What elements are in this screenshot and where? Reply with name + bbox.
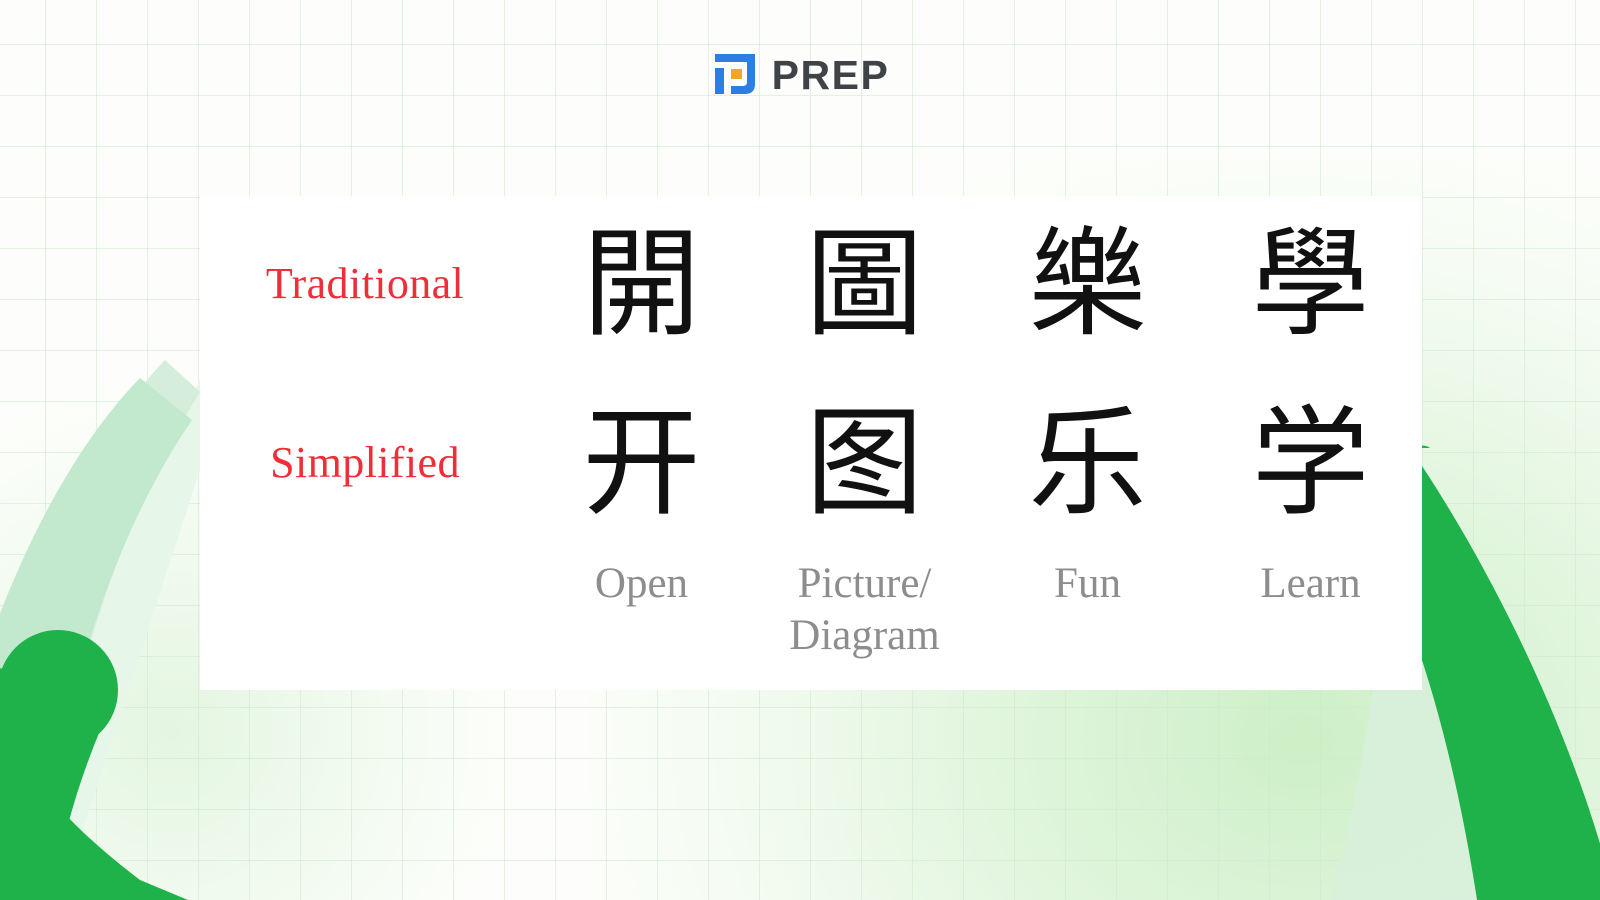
- traditional-char-3: 樂: [976, 196, 1199, 372]
- brand-logo[interactable]: PREP: [0, 52, 1600, 98]
- row-label-simplified: Simplified: [200, 372, 530, 554]
- traditional-char-2: 圖: [753, 196, 976, 372]
- character-comparison-table: Traditional 開 圖 樂 學 Simplified 开 图 乐 学 O…: [200, 196, 1422, 690]
- meaning-1: Open: [530, 554, 753, 690]
- slide-canvas: PREP Traditional 開 圖 樂 學 Simplified 开 图 …: [0, 0, 1600, 900]
- traditional-char-1: 開: [530, 196, 753, 372]
- meaning-row-spacer: [200, 554, 530, 690]
- meaning-2: Picture/ Diagram: [753, 554, 976, 690]
- simplified-char-3: 乐: [976, 372, 1199, 554]
- row-label-traditional: Traditional: [200, 196, 530, 372]
- prep-logo-icon: [711, 52, 759, 98]
- brand-name: PREP: [772, 55, 890, 96]
- simplified-char-4: 学: [1199, 372, 1422, 554]
- meaning-4: Learn: [1199, 554, 1422, 690]
- traditional-char-4: 學: [1199, 196, 1422, 372]
- simplified-char-2: 图: [753, 372, 976, 554]
- meaning-3: Fun: [976, 554, 1199, 690]
- simplified-char-1: 开: [530, 372, 753, 554]
